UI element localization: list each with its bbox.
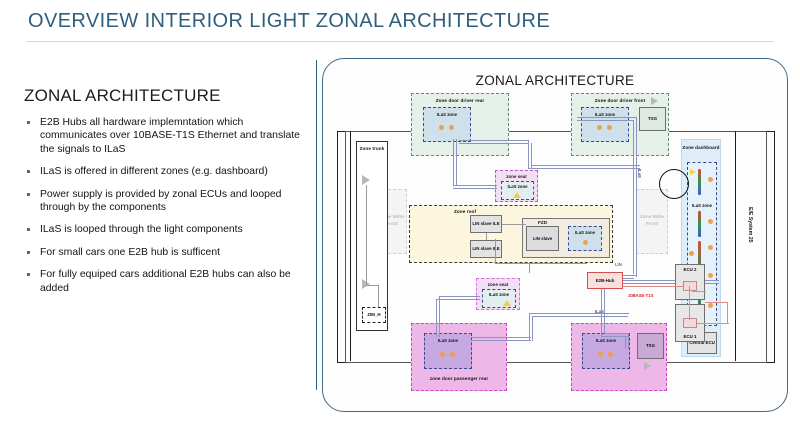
led-strip: [698, 169, 701, 195]
vehicle-sill-right: [735, 131, 736, 361]
lin-wire: [495, 239, 496, 263]
ilas-wire: [459, 143, 529, 144]
seat-indicator-icon: [503, 300, 511, 306]
ilas-zone-seat-upper[interactable]: ILaS zone: [501, 181, 534, 200]
ilas-wire: [453, 185, 497, 186]
lin-slave-ile-1[interactable]: LIN slave ILE: [470, 215, 502, 233]
ilas-wire: [532, 316, 628, 317]
lin-slave[interactable]: LIN slave: [526, 226, 559, 251]
ilas-wire-dashboard: [705, 280, 719, 281]
zone-door-driver-rear[interactable]: Zone door driver rear ILaS zone: [411, 93, 509, 156]
ilas-wire: [628, 333, 629, 349]
ilas-right-net-label: ILaS: [637, 169, 642, 178]
power-wire: [623, 286, 683, 287]
zim-h-module[interactable]: ZIM_H: [362, 307, 386, 323]
ilas-wire: [633, 120, 634, 274]
list-item: For small cars one E2B hub is sufficent: [24, 246, 312, 259]
zone-seat-lower-label: zone seat: [477, 282, 519, 287]
zone-door-passenger-rear[interactable]: ILaS zone zone door passenger rear: [411, 323, 507, 391]
dashboard-highlight-circle: [659, 169, 689, 199]
led-dot: [607, 125, 612, 130]
ilas-zone-fzd[interactable]: ILaS zone: [568, 226, 602, 251]
tsg-passenger-front[interactable]: TSG: [637, 333, 664, 359]
ilas-wire: [436, 299, 437, 321]
ilas-wire: [529, 313, 629, 314]
led-dot: [439, 125, 444, 130]
ilas-wire: [439, 319, 440, 337]
lin-wire: [529, 263, 530, 273]
list-item: ILaS is offered in different zones (e.g.…: [24, 165, 312, 178]
ilas-zone-label: ILaS zone: [688, 203, 716, 208]
led-dot: [598, 352, 603, 357]
led-dot: [708, 177, 713, 182]
power-wire: [692, 291, 706, 292]
led-dot: [440, 352, 445, 357]
trunk-wire-down: [378, 285, 379, 309]
tsg-label: TSG: [646, 343, 655, 348]
vehicle-sill-left: [350, 131, 351, 361]
ilas-wire: [453, 139, 454, 185]
ilas-wire: [436, 299, 480, 300]
ilas-wire: [471, 337, 531, 338]
diagram-title: ZONAL ARCHITECTURE: [323, 73, 787, 88]
left-text-column: ZONAL ARCHITECTURE E2B Hubs all hardware…: [24, 86, 312, 304]
e2b-hub-label: E2B-Hub: [596, 278, 615, 283]
ilas-wire: [623, 275, 637, 276]
list-item: E2B Hubs all hardware implemntation whic…: [24, 116, 312, 156]
ilas-wire: [623, 278, 634, 279]
trunk-arrow-top-icon: [362, 175, 370, 185]
list-item: Power supply is provided by zonal ECUs a…: [24, 188, 312, 215]
seat-indicator-icon: [513, 192, 521, 198]
tsg-label: TSG: [648, 116, 657, 121]
ilas-zone-label: ILaS zone: [425, 338, 471, 343]
led-dot: [583, 240, 588, 245]
ecu-1-label: ECU 1: [684, 334, 697, 339]
ilas-wire: [577, 117, 637, 118]
led-dot: [608, 352, 613, 357]
zone-door-passenger-rear-label: zone door passenger rear: [412, 376, 506, 381]
zone-door-driver-front[interactable]: Zone door driver front ILaS zone TSG: [571, 93, 669, 156]
lin-slave-ile-1-label: LIN slave ILE: [472, 221, 499, 226]
roof-wire-2: [486, 233, 487, 240]
zone-roof[interactable]: Zone roof LIN slave ILE LIN slave ILE FZ…: [409, 205, 613, 263]
zone-seat-upper[interactable]: zone seat ILaS zone: [495, 170, 538, 202]
ee-system-side-label: E/E System 25: [747, 207, 753, 242]
led-dot: [708, 273, 713, 278]
ilas-zone-driver-front[interactable]: ILaS zone: [581, 107, 629, 142]
bullet-list: E2B Hubs all hardware implemntation whic…: [24, 116, 312, 295]
ilas-wire-dashboard: [623, 283, 675, 284]
power-wire: [689, 286, 690, 320]
ilas-wire: [531, 165, 640, 166]
power-wire: [697, 323, 729, 324]
power-wire: [727, 302, 728, 324]
ilas-wire: [471, 340, 531, 341]
lin-wire: [529, 263, 587, 264]
zone-trunk[interactable]: Zone trunk ZIM_H: [356, 141, 388, 331]
list-item: ILaS is looped through the light compone…: [24, 223, 312, 236]
ilas-zone-label: ILaS zone: [569, 230, 601, 235]
led-dot: [449, 125, 454, 130]
ilas-wire: [625, 336, 626, 349]
lin-slave-ile-2[interactable]: LIN slave ILE: [470, 240, 502, 258]
section-heading: ZONAL ARCHITECTURE: [24, 86, 312, 106]
led-dot: [450, 352, 455, 357]
list-item: For fully equiped cars additional E2B hu…: [24, 268, 312, 295]
roof-wire-1: [502, 224, 526, 225]
ilas-wire: [636, 117, 637, 277]
ilas-zone-label: ILaS zone: [424, 112, 470, 117]
ilas-wire: [436, 319, 437, 337]
tsg-driver-front[interactable]: TSG: [639, 107, 666, 131]
zone-roof-label: Zone roof: [454, 209, 476, 214]
ilas-zone-label: ILaS zone: [483, 292, 515, 297]
ilas-wire-dashboard: [705, 283, 719, 284]
zone-seat-lower[interactable]: zone seat ILaS zone: [476, 278, 520, 310]
led-dot: [708, 303, 713, 308]
fzd-label: FZD: [538, 220, 547, 225]
power-wire: [705, 302, 728, 303]
lin-wire: [495, 263, 529, 264]
ilas-wire: [604, 289, 605, 334]
zone-door-driver-rear-label: Zone door driver rear: [412, 98, 508, 103]
ilas-wire: [532, 316, 533, 341]
ilas-wire: [439, 296, 480, 297]
ecu-2-label: ECU 2: [684, 267, 697, 272]
zone-seat-upper-label: zone seat: [496, 174, 537, 179]
led-dot: [597, 125, 602, 130]
door-driver-front-arrow-icon: [651, 97, 658, 105]
ilas-wire: [439, 296, 440, 321]
zone-trunk-label: Zone trunk: [357, 146, 387, 152]
title-divider: [26, 41, 774, 42]
led-dot: [708, 219, 713, 224]
ilas-zone-passenger-rear[interactable]: ILaS zone: [424, 333, 472, 369]
ilas-zone-driver-rear[interactable]: ILaS zone: [423, 107, 471, 142]
ilas-zone-seat-lower[interactable]: ILaS zone: [482, 289, 516, 308]
trunk-wire-bottom: [366, 285, 378, 286]
e2b-hub[interactable]: E2B-Hub: [587, 272, 623, 289]
door-passenger-front-arrow-icon: [644, 362, 651, 370]
ilas-wire: [456, 139, 457, 185]
zim-h-label: ZIM_H: [367, 312, 380, 317]
zone-mitte-front: Zone Mitte Front: [636, 189, 668, 254]
ilas-wire: [604, 333, 629, 334]
zone-dashboard-label: Zone dashboard: [682, 145, 720, 151]
lin-slave-label: LIN slave: [533, 236, 552, 241]
ilas-wire: [577, 120, 634, 121]
dashboard-arrow-top-icon: [690, 169, 696, 175]
zonal-architecture-diagram: ZONAL ARCHITECTURE Zone Mitte Fond Zone …: [322, 58, 788, 412]
ilas-wire: [528, 168, 640, 169]
ilas-wire: [528, 140, 529, 168]
page-title: OVERVIEW INTERIOR LIGHT ZONAL ARCHITECTU…: [28, 10, 550, 33]
ilas-wire: [453, 188, 497, 189]
trunk-wire-vertical: [366, 185, 367, 285]
led-dot: [689, 251, 694, 256]
lin-net-label: LIN: [615, 262, 622, 267]
ethernet-net-label: 10BASE-T1S: [628, 293, 653, 298]
led-dot: [708, 245, 713, 250]
ilas-wire-dashboard: [623, 280, 675, 281]
ilas-zone-passenger-front[interactable]: ILaS zone: [582, 333, 630, 369]
led-strip: [698, 211, 701, 237]
zone-mitte-front-label: Zone Mitte Front: [637, 215, 667, 228]
ilas-wire: [529, 313, 530, 341]
column-divider: [316, 60, 317, 390]
ilas-zone-label: ILaS zone: [502, 184, 533, 189]
ilas-zone-label: ILaS zone: [583, 338, 629, 343]
ilas-wire: [459, 140, 529, 141]
